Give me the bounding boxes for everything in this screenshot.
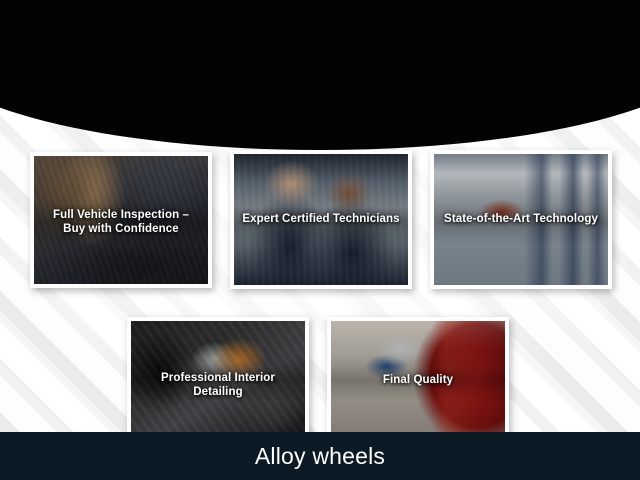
bottom-caption-bar: Alloy wheels <box>0 432 640 480</box>
header-banner: See what goes into every Pre-Owned Recon… <box>0 0 640 150</box>
card-photo: Final Quality <box>331 321 505 435</box>
card-caption: Professional InteriorDetailing <box>131 371 305 399</box>
card-caption: Final Quality <box>331 373 505 387</box>
bottom-caption-text: Alloy wheels <box>255 443 385 470</box>
slide-root: See what goes into every Pre-Owned Recon… <box>0 0 640 480</box>
card-photo: State-of-the-Art Technology <box>434 154 608 285</box>
card-photo: Full Vehicle Inspection –Buy with Confid… <box>34 156 208 284</box>
header-content: See what goes into every Pre-Owned Recon… <box>0 0 640 150</box>
feature-card-technology[interactable]: State-of-the-Art Technology <box>430 150 612 289</box>
feature-card-final-quality[interactable]: Final Quality <box>327 317 509 439</box>
feature-card-technicians[interactable]: Expert Certified Technicians <box>230 150 412 289</box>
card-caption: Expert Certified Technicians <box>234 212 408 226</box>
card-photo: Expert Certified Technicians <box>234 154 408 285</box>
card-photo: Professional InteriorDetailing <box>131 321 305 435</box>
card-caption: Full Vehicle Inspection –Buy with Confid… <box>34 208 208 236</box>
card-caption: State-of-the-Art Technology <box>434 212 608 226</box>
feature-card-detailing[interactable]: Professional InteriorDetailing <box>127 317 309 439</box>
feature-card-inspection[interactable]: Full Vehicle Inspection –Buy with Confid… <box>30 152 212 288</box>
